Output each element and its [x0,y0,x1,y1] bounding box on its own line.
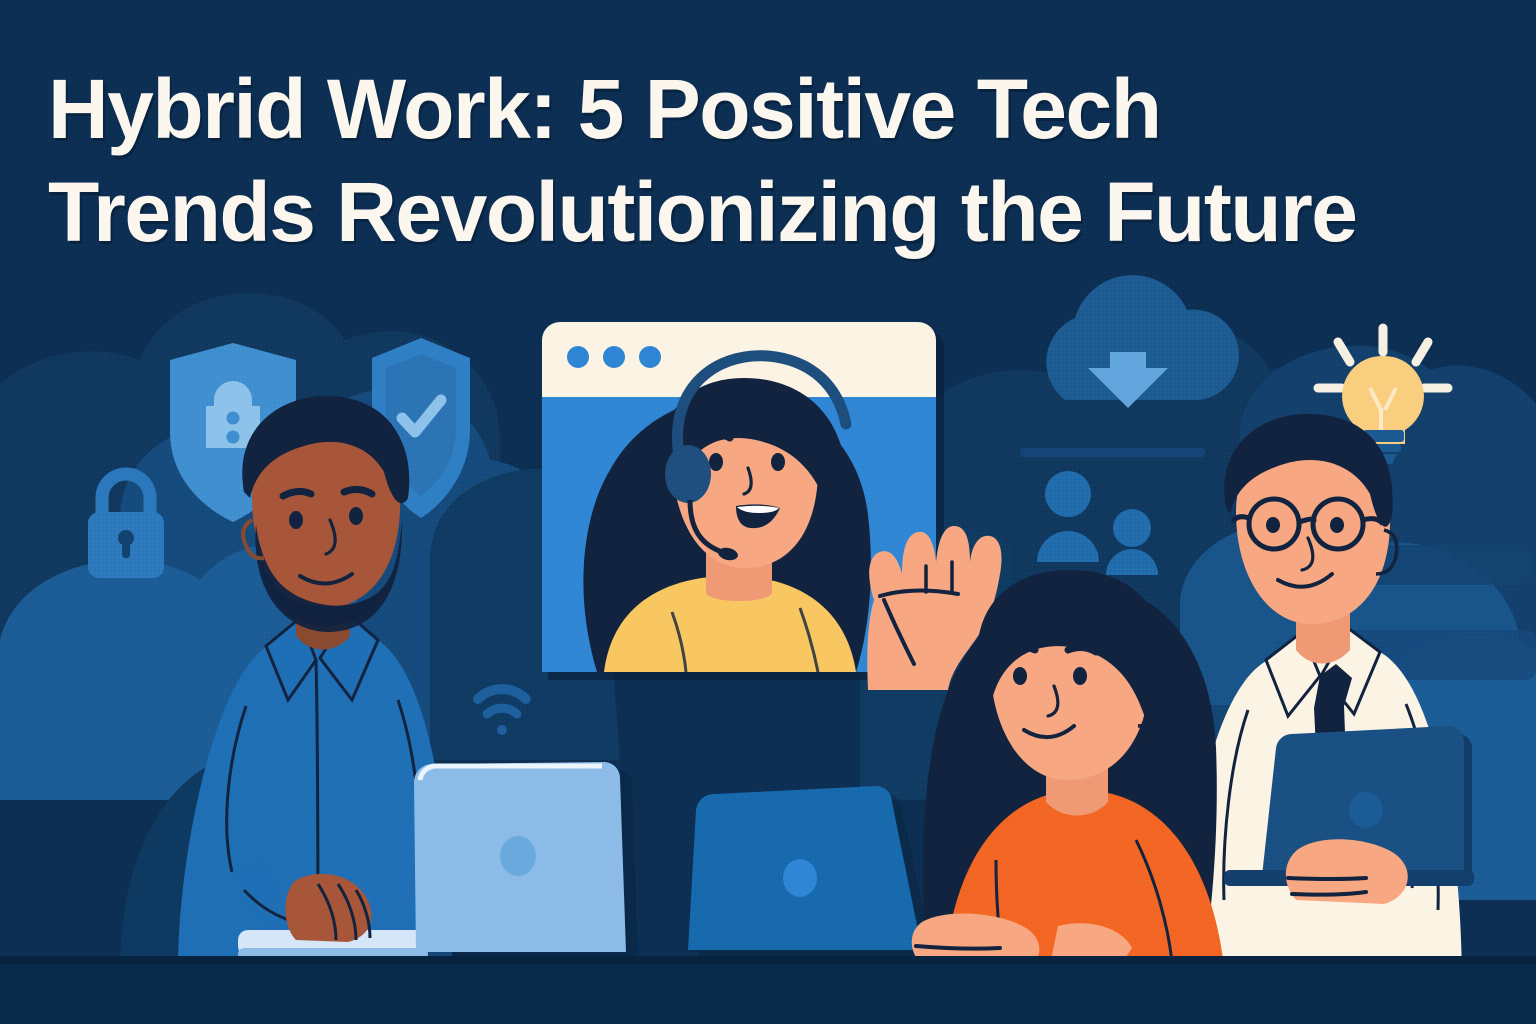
laptop-center-logo [783,859,817,897]
laptop-left-logo [500,836,536,876]
person-left-man [120,396,452,980]
person-right-man [1184,414,1462,990]
laptop-center [688,786,934,958]
people-layer [0,0,1536,1024]
hero-banner: Hybrid Work: 5 Positive Tech Trends Revo… [0,0,1536,1024]
laptop-right-logo [1349,792,1383,828]
laptop-left [414,762,638,960]
